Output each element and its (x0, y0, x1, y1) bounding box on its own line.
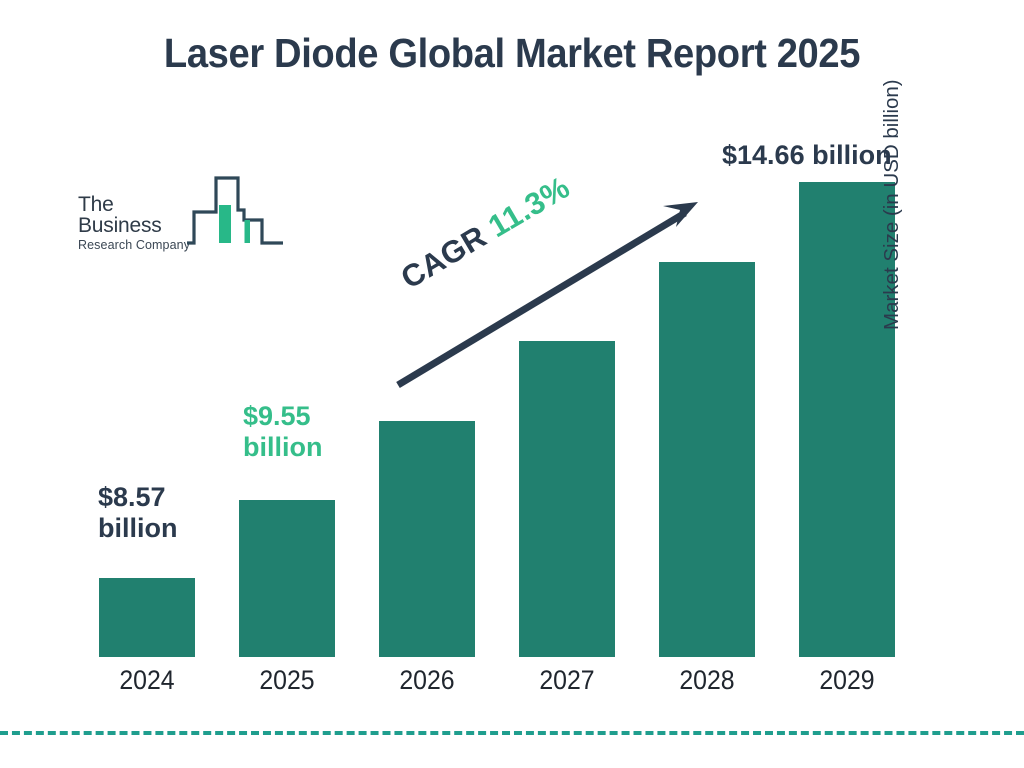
xaxis-label-2026: 2026 (383, 665, 471, 696)
brand-logo-line2: Research Company (78, 239, 198, 252)
growth-arrow-icon (380, 185, 720, 405)
brand-logo: The Business Research Company (78, 172, 284, 250)
value-callout-2029: $14.66 billion (722, 140, 892, 171)
value-callout-2025: $9.55 billion (243, 401, 322, 464)
xaxis-label-2028: 2028 (663, 665, 751, 696)
xaxis-label-2025: 2025 (243, 665, 331, 696)
bar-2025 (239, 500, 335, 657)
brand-logo-text: The Business Research Company (78, 194, 198, 252)
brand-logo-line1: The Business (78, 194, 198, 236)
value-callout-2024: $8.57 billion (98, 482, 177, 545)
yaxis-label: Market Size (in USD billion) (880, 0, 904, 330)
bar-2024 (99, 578, 195, 657)
bar-chart-logo-icon (186, 172, 284, 250)
bar-2026 (379, 421, 475, 657)
chart-canvas: Laser Diode Global Market Report 2025 Th… (0, 0, 1024, 768)
xaxis-label-2024: 2024 (103, 665, 191, 696)
xaxis-label-2027: 2027 (523, 665, 611, 696)
footer-divider (0, 731, 1024, 735)
xaxis-label-2029: 2029 (803, 665, 891, 696)
page-title: Laser Diode Global Market Report 2025 (36, 30, 988, 77)
